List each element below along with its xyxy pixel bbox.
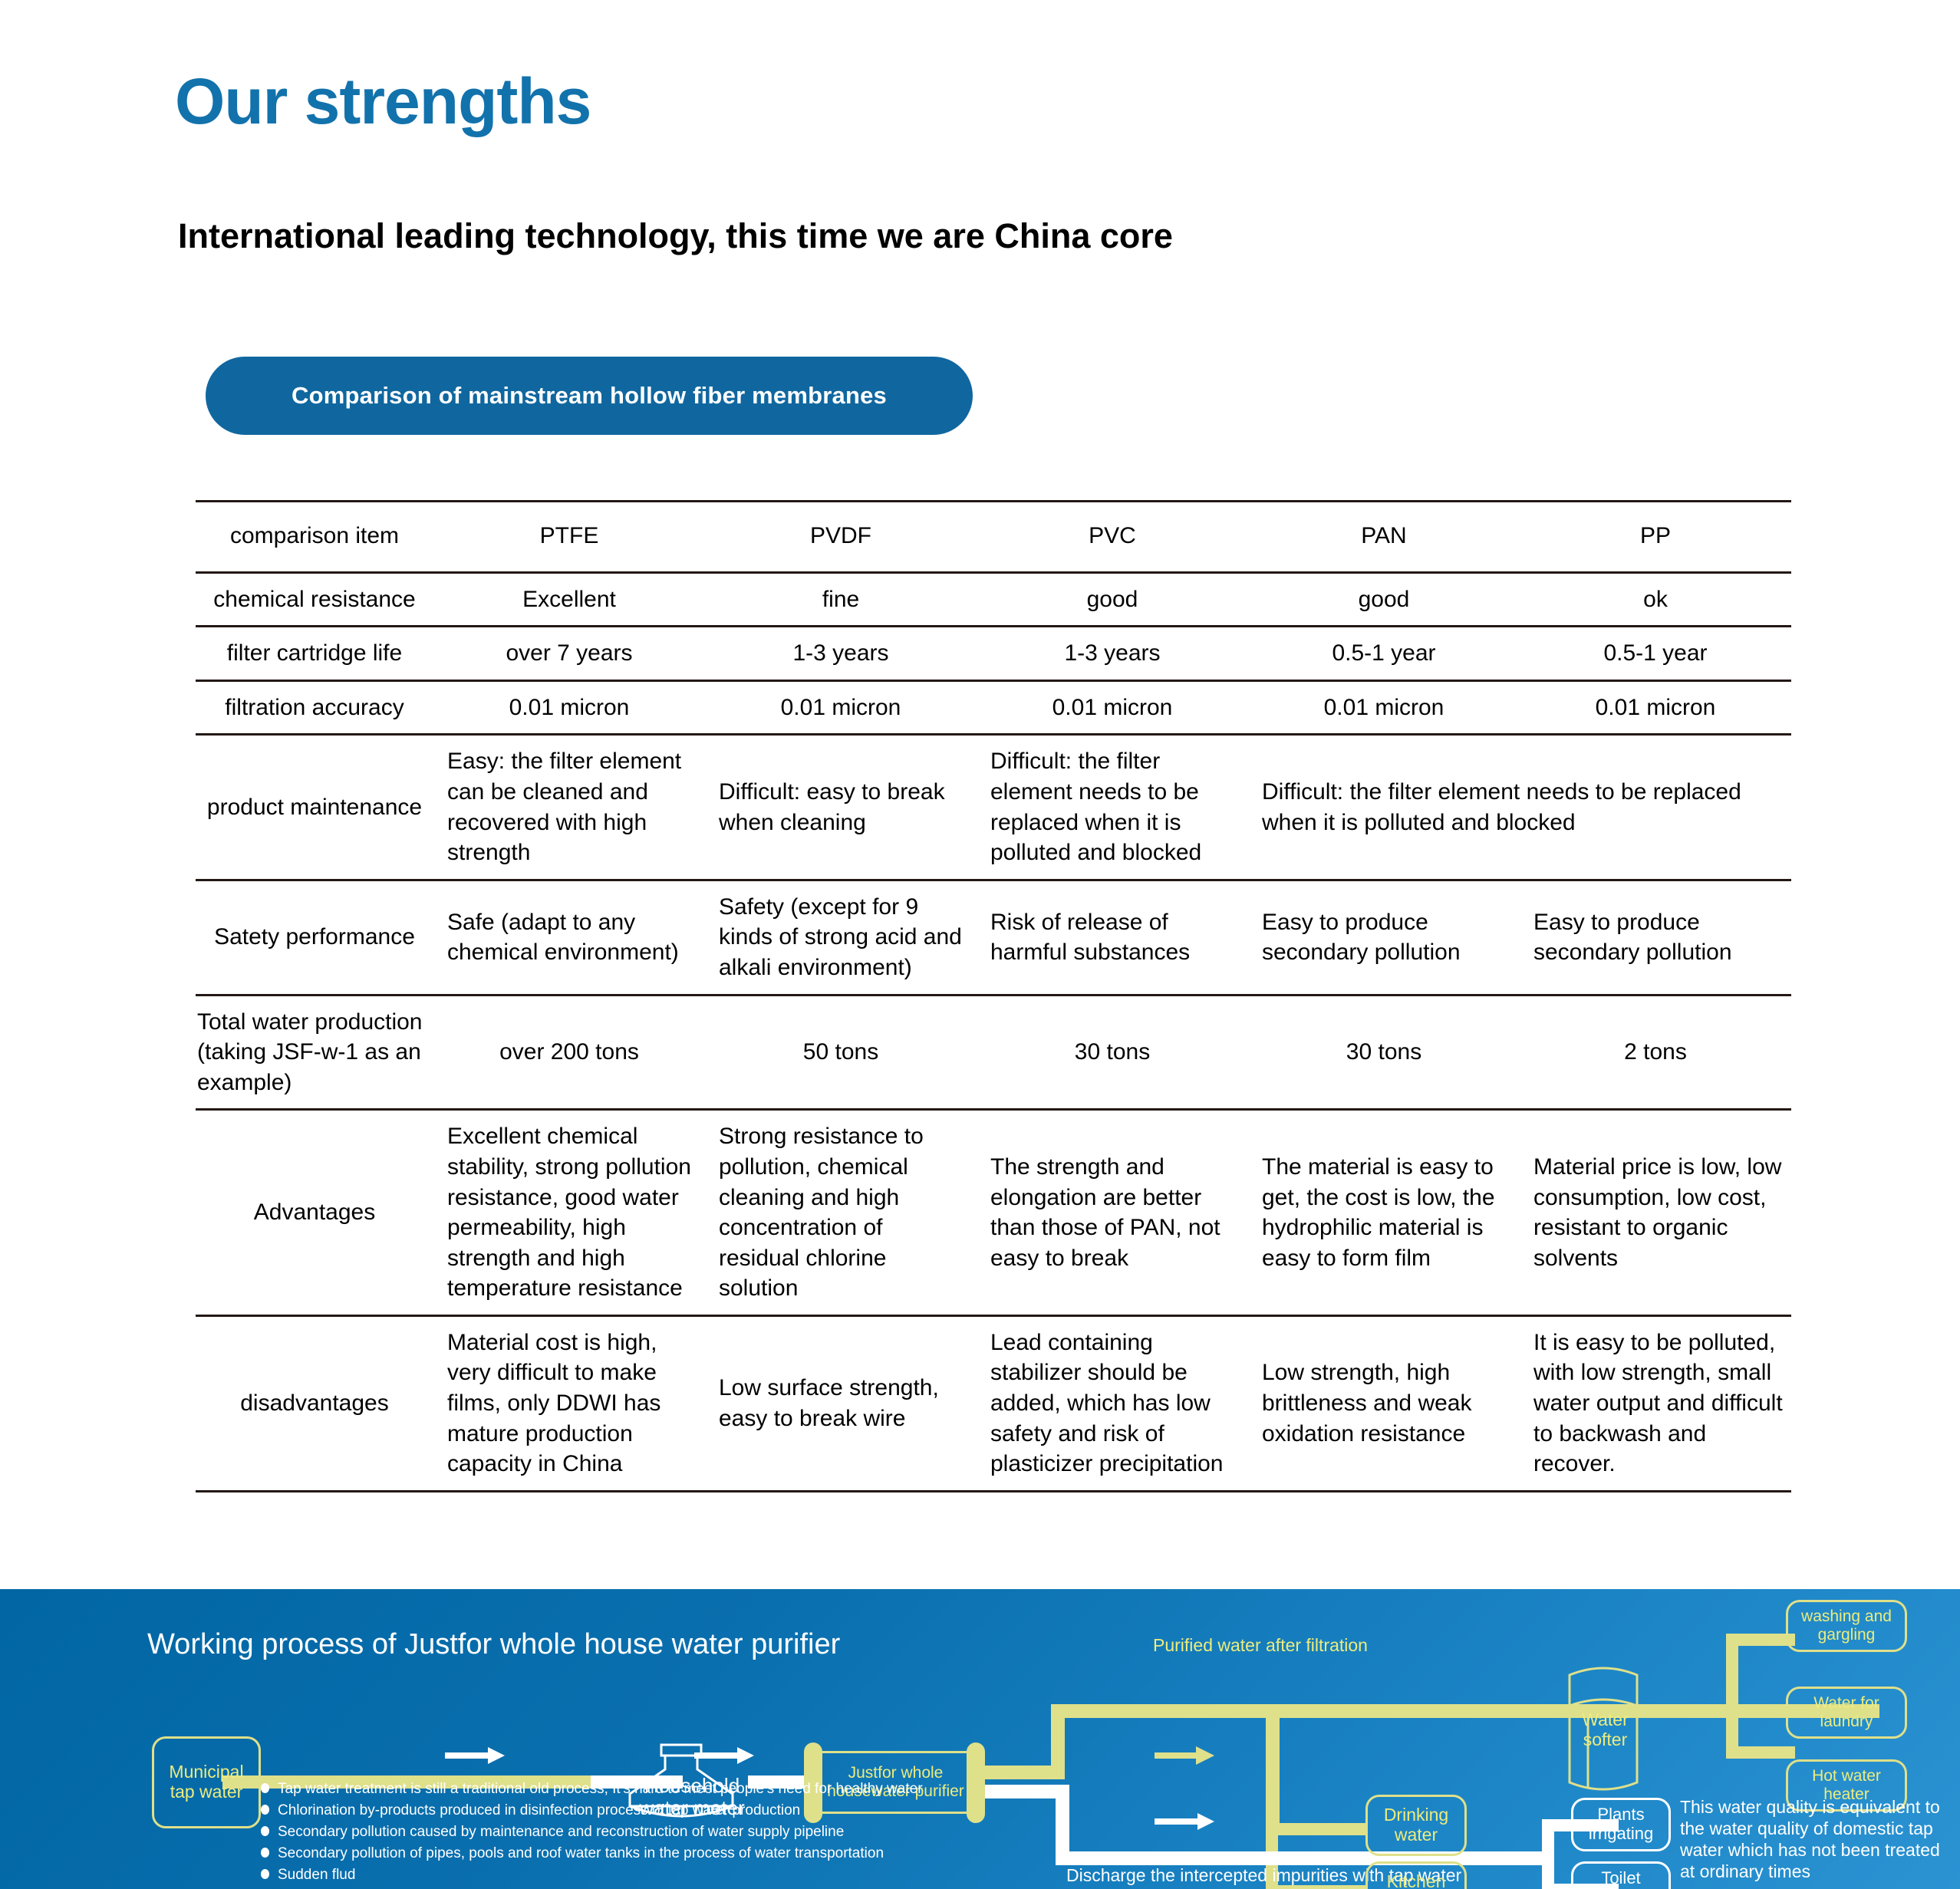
cell: 0.01 micron	[1248, 680, 1520, 735]
cell: 50 tons	[705, 995, 977, 1110]
cell: ok	[1520, 572, 1791, 627]
bullet-dot-icon	[261, 1848, 269, 1858]
cell: 0.5-1 year	[1248, 627, 1520, 681]
cell: Excellent	[433, 572, 705, 627]
node-kitchen-water[interactable]: Kitchen water	[1365, 1861, 1467, 1889]
table-row: Satety performance Safe (adapt to any ch…	[196, 880, 1791, 995]
cell: Difficult: the filter element needs to b…	[1248, 735, 1791, 880]
cell: Safe (adapt to any chemical environment)	[433, 880, 705, 995]
cell: It is easy to be polluted, with low stre…	[1520, 1315, 1791, 1491]
list-item-text: Sudden flud	[278, 1868, 355, 1882]
list-item-text: Tap water treatment is still a tradition…	[278, 1782, 923, 1796]
cell: 0.5-1 year	[1520, 627, 1791, 681]
pipe-heater-branch	[1726, 1746, 1795, 1759]
cell: Easy: the filter element can be cleaned …	[433, 735, 705, 880]
node-water-for-laundry[interactable]: Water for laundry	[1786, 1687, 1907, 1739]
pipe-to-drinking-kitchen	[1266, 1704, 1280, 1835]
pipe-laundry-branch	[1726, 1704, 1795, 1716]
table-row: filtration accuracy 0.01 micron 0.01 mic…	[196, 680, 1791, 735]
table-row: product maintenance Easy: the filter ele…	[196, 735, 1791, 880]
cell: Low surface strength, easy to break wire	[705, 1315, 977, 1491]
cell: over 200 tons	[433, 995, 705, 1110]
page-title: Our strengths	[175, 69, 591, 133]
cell: Material price is low, low consumption, …	[1520, 1110, 1791, 1316]
node-municipal-tap-water[interactable]: Municipal tap water	[152, 1736, 261, 1828]
cell: Difficult: the filter element needs to b…	[977, 735, 1248, 880]
cell: 0.01 micron	[433, 680, 705, 735]
pipe-kitchen-branch	[1266, 1885, 1365, 1889]
table-row: disadvantages Material cost is high, ver…	[196, 1315, 1791, 1491]
row-label: Advantages	[196, 1110, 433, 1316]
cell: fine	[705, 572, 977, 627]
cell: 0.01 micron	[1520, 680, 1791, 735]
list-item-text: Secondary pollution of pipes, pools and …	[278, 1846, 884, 1861]
comparison-banner-label: Comparison of mainstream hollow fiber me…	[292, 382, 887, 410]
bullet-dot-icon	[261, 1805, 269, 1815]
cell: Difficult: easy to break when cleaning	[705, 735, 977, 880]
column-header-item: comparison item	[196, 502, 433, 573]
row-label: filter cartridge life	[196, 627, 433, 681]
node-toilet-flushing[interactable]: Toilet flushing	[1571, 1861, 1671, 1889]
pipe-washing-branch	[1726, 1634, 1795, 1646]
pipe-softener-riser	[1726, 1634, 1738, 1756]
node-washing-gargling-label: washing and gargling	[1801, 1608, 1892, 1644]
cell: Safety (except for 9 kinds of strong aci…	[705, 880, 977, 995]
row-label: disadvantages	[196, 1315, 433, 1491]
pipe-softener-out	[1645, 1704, 1738, 1716]
node-drinking-water-label: Drinking water	[1384, 1805, 1448, 1845]
diagram-title: Working process of Justfor whole house w…	[147, 1630, 840, 1659]
cell: Easy to produce secondary pollution	[1520, 880, 1791, 995]
node-municipal-tap-water-label: Municipal tap water	[169, 1762, 243, 1802]
table-row: Total water production (taking JSF-w-1 a…	[196, 995, 1791, 1110]
cell: 30 tons	[1248, 995, 1520, 1110]
comparison-banner: Comparison of mainstream hollow fiber me…	[206, 357, 973, 435]
column-header-ptfe: PTFE	[433, 502, 705, 573]
table-header-row: comparison item PTFE PVDF PVC PAN PP	[196, 502, 1791, 573]
column-header-pvdf: PVDF	[705, 502, 977, 573]
cell: Strong resistance to pollution, chemical…	[705, 1110, 977, 1316]
cell: Low strength, high brittleness and weak …	[1248, 1315, 1520, 1491]
node-water-softener[interactable]: Water softer	[1565, 1710, 1645, 1750]
cell: Excellent chemical stability, strong pol…	[433, 1110, 705, 1316]
list-item: Secondary pollution of pipes, pools and …	[261, 1846, 1181, 1861]
cell: Material cost is high, very difficult to…	[433, 1315, 705, 1491]
cell: 1-3 years	[977, 627, 1248, 681]
table-row: Advantages Excellent chemical stability,…	[196, 1110, 1791, 1316]
label-purified-water: Purified water after filtration	[1153, 1635, 1368, 1655]
list-item: Chlorination by-products produced in dis…	[261, 1803, 1181, 1818]
table-row: filter cartridge life over 7 years 1-3 y…	[196, 627, 1791, 681]
cell: 0.01 micron	[705, 680, 977, 735]
flow-arrow-icon	[445, 1746, 506, 1764]
node-washing-gargling[interactable]: washing and gargling	[1786, 1600, 1907, 1652]
column-header-pvc: PVC	[977, 502, 1248, 573]
node-drinking-water[interactable]: Drinking water	[1365, 1795, 1467, 1856]
row-label: product maintenance	[196, 735, 433, 880]
column-header-pan: PAN	[1248, 502, 1520, 573]
tap-water-issues-list: Tap water treatment is still a tradition…	[261, 1782, 1181, 1889]
pipe-drinking-branch	[1266, 1823, 1365, 1835]
page-subtitle: International leading technology, this t…	[178, 219, 1173, 253]
cell: The material is easy to get, the cost is…	[1248, 1110, 1520, 1316]
list-item: Secondary pollution caused by maintenanc…	[261, 1825, 1181, 1839]
cell: 0.01 micron	[977, 680, 1248, 735]
water-quality-note: This water quality is equivalent to the …	[1680, 1796, 1948, 1882]
cell: Easy to produce secondary pollution	[1248, 880, 1520, 995]
node-water-for-laundry-label: Water for laundry	[1813, 1694, 1879, 1730]
cell: Lead containing stabilizer should be add…	[977, 1315, 1248, 1491]
node-plants-irrigating[interactable]: Plants irrigating	[1571, 1798, 1671, 1851]
row-label: filtration accuracy	[196, 680, 433, 735]
cell: good	[977, 572, 1248, 627]
list-item: Tap water treatment is still a tradition…	[261, 1782, 1181, 1796]
cell: 2 tons	[1520, 995, 1791, 1110]
bullet-dot-icon	[261, 1826, 269, 1836]
bullet-dot-icon	[261, 1869, 269, 1879]
flow-arrow-icon	[1155, 1745, 1216, 1765]
row-label: Total water production (taking JSF-w-1 a…	[196, 995, 433, 1110]
column-header-pp: PP	[1520, 502, 1791, 573]
node-plants-irrigating-label: Plants irrigating	[1589, 1805, 1653, 1843]
cell: Risk of release of harmful substances	[977, 880, 1248, 995]
row-label: chemical resistance	[196, 572, 433, 627]
cell: The strength and elongation are better t…	[977, 1110, 1248, 1316]
cell: good	[1248, 572, 1520, 627]
membrane-comparison-table: comparison item PTFE PVDF PVC PAN PP che…	[196, 500, 1791, 1492]
list-item: Sudden flud	[261, 1868, 1181, 1882]
cell: 30 tons	[977, 995, 1248, 1110]
table-row: chemical resistance Excellent fine good …	[196, 572, 1791, 627]
cell: 1-3 years	[705, 627, 977, 681]
node-water-softener-label: Water softer	[1582, 1710, 1629, 1749]
node-kitchen-water-label: Kitchen water	[1387, 1872, 1446, 1889]
row-label: Satety performance	[196, 880, 433, 995]
bullet-dot-icon	[261, 1783, 269, 1793]
list-item-text: Secondary pollution caused by maintenanc…	[278, 1825, 844, 1839]
list-item-text: Chlorination by-products produced in dis…	[278, 1803, 800, 1818]
node-toilet-flushing-label: Toilet flushing	[1592, 1869, 1650, 1889]
cell: over 7 years	[433, 627, 705, 681]
